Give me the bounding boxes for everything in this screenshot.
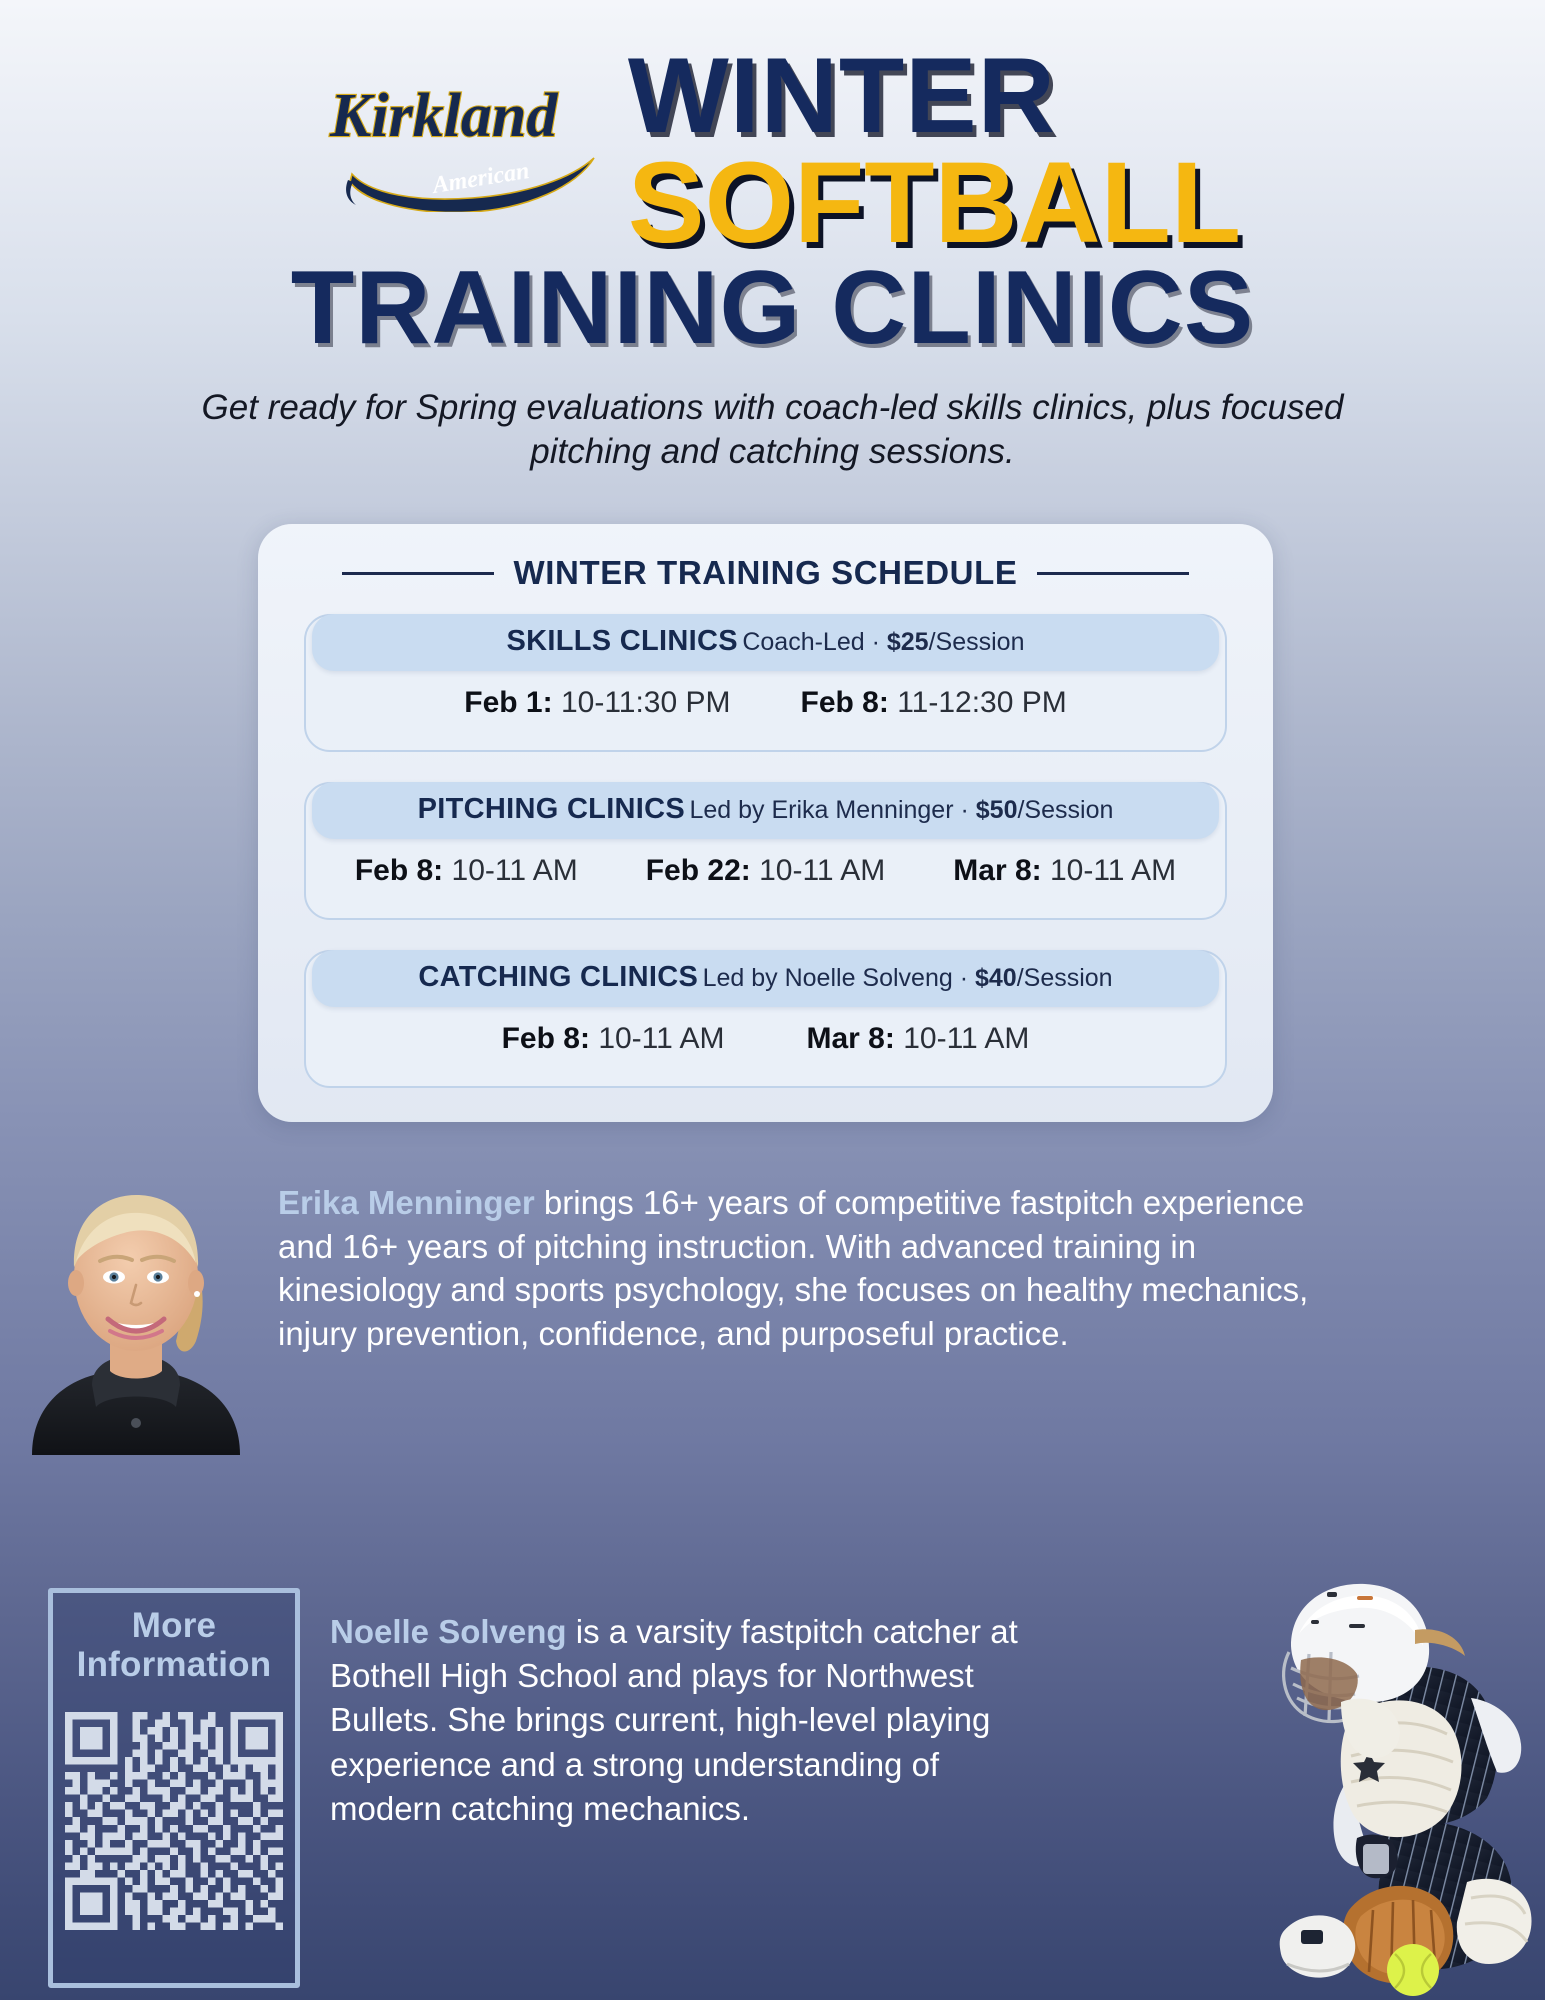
clinic-title-catching: CATCHING CLINICS — [418, 961, 698, 993]
flyer-header: Kirkland American WINTER SOFTBALL TRAINI… — [0, 0, 1545, 474]
session-date: Feb 8: — [502, 1022, 590, 1055]
session-item: Feb 8: 11-12:30 PM — [801, 686, 1067, 720]
clinic-price-suffix-catching: /Session — [1017, 964, 1113, 992]
session-item: Feb 8: 10-11 AM — [355, 854, 578, 888]
logo-script-text: Kirkland — [329, 82, 558, 150]
title-softball: SOFTBALL — [628, 145, 1243, 262]
session-date: Feb 22: — [646, 854, 751, 887]
clinic-sep-catching: · — [953, 964, 975, 992]
erika-bio-text: Erika Menninger brings 16+ years of comp… — [270, 1155, 1320, 1455]
session-time: 10-11:30 PM — [561, 686, 731, 719]
session-item: Mar 8: 10-11 AM — [953, 854, 1176, 888]
session-time: 10-11 AM — [903, 1022, 1029, 1055]
session-date: Feb 8: — [355, 854, 443, 887]
session-item: Feb 8: 10-11 AM — [502, 1022, 725, 1056]
clinic-header-catching: CATCHING CLINICS Led by Noelle Solveng ·… — [312, 950, 1219, 1007]
clinic-price-pitching: $50 — [976, 796, 1018, 824]
noelle-name: Noelle Solveng — [330, 1613, 567, 1650]
clinic-title-skills: SKILLS CLINICS — [507, 625, 738, 657]
clinic-lead-pitching: Led by Erika Menninger — [690, 796, 954, 824]
session-date: Feb 8: — [801, 686, 889, 719]
session-list-catching: Feb 8: 10-11 AM Mar 8: 10-11 AM — [326, 1022, 1205, 1056]
clinic-header-skills: SKILLS CLINICS Coach-Led · $25/Session — [312, 614, 1219, 671]
heading-rule-right — [1037, 572, 1189, 575]
clinic-lead-catching: Led by Noelle Solveng — [703, 964, 953, 992]
clinic-meta-catching: Led by Noelle Solveng · $40/Session — [703, 964, 1113, 992]
qr-label-line1: More — [65, 1607, 283, 1646]
clinic-block-catching: CATCHING CLINICS Led by Noelle Solveng ·… — [304, 950, 1227, 1088]
clinic-price-suffix-skills: /Session — [929, 628, 1025, 656]
session-item: Feb 22: 10-11 AM — [646, 854, 886, 888]
kirkland-american-logo: Kirkland American — [322, 62, 612, 212]
clinic-lead-skills: Coach-Led — [742, 628, 864, 656]
clinic-price-skills: $25 — [887, 628, 929, 656]
winter-training-schedule-card: WINTER TRAINING SCHEDULE SKILLS CLINICS … — [258, 524, 1273, 1122]
session-item: Feb 1: 10-11:30 PM — [464, 686, 730, 720]
qr-label-line2: Information — [65, 1646, 283, 1685]
qr-code-icon[interactable] — [65, 1690, 283, 1952]
title-stack: WINTER SOFTBALL — [628, 44, 1243, 262]
session-list-pitching: Feb 8: 10-11 AM Feb 22: 10-11 AM Mar 8: … — [326, 854, 1205, 888]
clinic-price-catching: $40 — [975, 964, 1017, 992]
session-time: 10-11 AM — [759, 854, 885, 887]
clinic-block-skills: SKILLS CLINICS Coach-Led · $25/Session F… — [304, 614, 1227, 752]
clinic-meta-pitching: Led by Erika Menninger · $50/Session — [690, 796, 1114, 824]
title-training-clinics: TRAINING CLINICS — [0, 256, 1545, 360]
clinic-sep-skills: · — [865, 628, 887, 656]
session-date: Mar 8: — [807, 1022, 895, 1055]
qr-label: More Information — [65, 1607, 283, 1684]
clinic-header-pitching: PITCHING CLINICS Led by Erika Menninger … — [312, 782, 1219, 839]
title-winter: WINTER — [628, 44, 1243, 147]
session-time: 11-12:30 PM — [897, 686, 1067, 719]
clinic-title-pitching: PITCHING CLINICS — [418, 793, 685, 825]
session-date: Mar 8: — [953, 854, 1041, 887]
clinic-sep-pitching: · — [954, 796, 976, 824]
clinic-meta-skills: Coach-Led · $25/Session — [742, 628, 1024, 656]
clinic-price-suffix-pitching: /Session — [1017, 796, 1113, 824]
more-information-qr-block[interactable]: More Information — [48, 1588, 300, 1988]
session-list-skills: Feb 1: 10-11:30 PM Feb 8: 11-12:30 PM — [326, 686, 1205, 720]
session-time: 10-11 AM — [598, 1022, 724, 1055]
header-subtitle: Get ready for Spring evaluations with co… — [0, 386, 1545, 474]
bio-noelle-solveng: Noelle Solveng is a varsity fastpitch ca… — [330, 1610, 1030, 1831]
erika-headshot-photo — [0, 1155, 270, 1455]
session-date: Feb 1: — [464, 686, 552, 719]
bio-erika-menninger: Erika Menninger brings 16+ years of comp… — [0, 1155, 1320, 1455]
clinic-block-pitching: PITCHING CLINICS Led by Erika Menninger … — [304, 782, 1227, 920]
session-item: Mar 8: 10-11 AM — [807, 1022, 1030, 1056]
erika-name: Erika Menninger — [278, 1184, 535, 1221]
header-title-row: Kirkland American WINTER SOFTBALL — [0, 48, 1545, 262]
schedule-heading-row: WINTER TRAINING SCHEDULE — [304, 550, 1227, 592]
catcher-action-photo — [1265, 1580, 1545, 2000]
heading-rule-left — [342, 572, 494, 575]
session-time: 10-11 AM — [452, 854, 578, 887]
schedule-heading-text: WINTER TRAINING SCHEDULE — [514, 554, 1018, 592]
session-time: 10-11 AM — [1050, 854, 1176, 887]
